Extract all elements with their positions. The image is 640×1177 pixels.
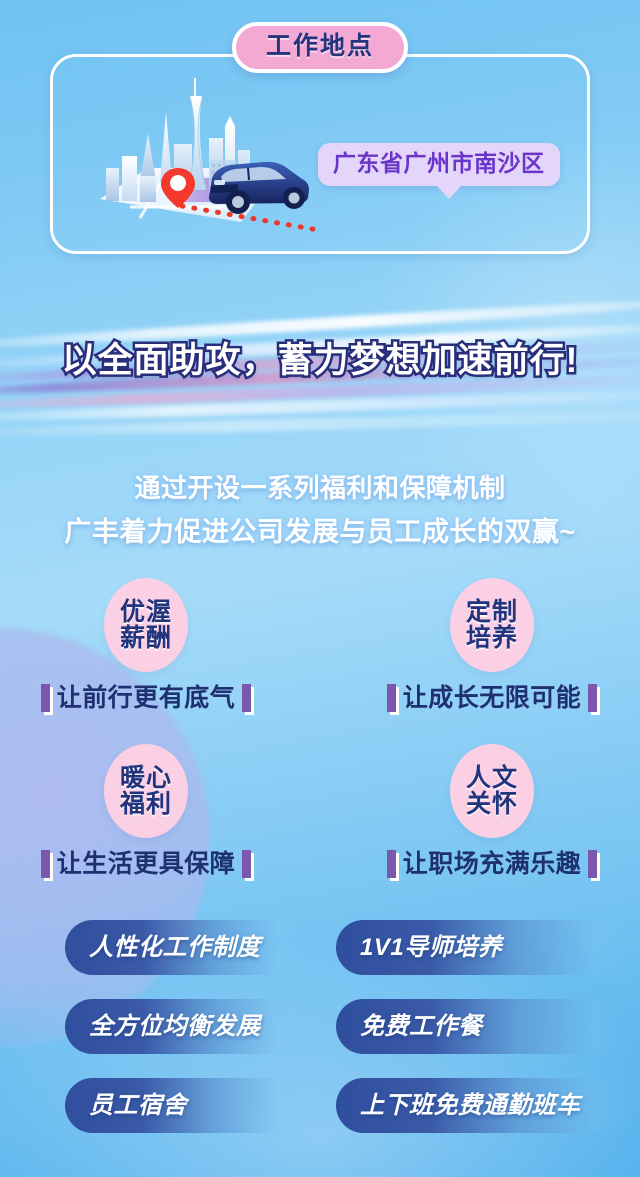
perk-pill-row-1: 人性化工作制度 1V1导师培养	[0, 920, 640, 975]
perk-pill-list: 人性化工作制度 1V1导师培养 全方位均衡发展 免费工作餐	[0, 920, 640, 1155]
perk-pill-row-3: 员工宿舍 上下班免费通勤班车	[0, 1078, 640, 1133]
benefits-row-1: 优渥 薪酬 让前行更有底气 定制 培养 让成长无限可能	[0, 578, 640, 712]
location-bubble: 广东省广州市南沙区	[318, 143, 560, 186]
tagline-bar-left-icon	[41, 684, 50, 712]
benefit-tagline-text-0: 让前行更有底气	[57, 686, 236, 711]
benefit-circle-line1-1: 定制	[466, 599, 518, 626]
subtitle: 通过开设一系列福利和保障机制 广丰着力促进公司发展与员工成长的双赢~	[0, 470, 640, 551]
tagline-bar-right-icon	[588, 850, 597, 878]
benefit-circle-line2-3: 关怀	[466, 791, 518, 818]
benefit-circle-line1-2: 暖心	[120, 765, 172, 792]
tagline-bar-left-icon	[387, 850, 396, 878]
subtitle-line-2: 广丰着力促进公司发展与员工成长的双赢~	[0, 513, 640, 551]
tagline-bar-right-icon	[242, 684, 251, 712]
benefit-item-0: 优渥 薪酬 让前行更有底气	[0, 578, 320, 712]
work-location-badge-label: 工作地点	[266, 34, 374, 59]
benefit-item-3: 人文 关怀 让职场充满乐趣	[320, 744, 640, 878]
headline: 以全面助攻，蓄力梦想加速前行!	[0, 343, 640, 378]
benefit-tagline-0: 让前行更有底气	[41, 684, 252, 712]
benefit-tagline-2: 让生活更具保障	[41, 850, 252, 878]
benefit-circle-1: 定制 培养	[450, 578, 534, 672]
benefit-circle-0: 优渥 薪酬	[104, 578, 188, 672]
work-location-badge: 工作地点	[232, 22, 408, 73]
perk-pill-label-0: 人性化工作制度	[89, 936, 261, 960]
benefit-tagline-text-3: 让职场充满乐趣	[403, 852, 582, 877]
tagline-bar-right-icon	[588, 684, 597, 712]
perk-pill-label-5: 上下班免费通勤班车	[360, 1094, 581, 1118]
benefits-grid: 优渥 薪酬 让前行更有底气 定制 培养 让成长无限可能	[0, 578, 640, 878]
benefit-tagline-3: 让职场充满乐趣	[387, 850, 598, 878]
subtitle-line-1: 通过开设一系列福利和保障机制	[0, 470, 640, 507]
benefit-item-1: 定制 培养 让成长无限可能	[320, 578, 640, 712]
benefit-circle-3: 人文 关怀	[450, 744, 534, 838]
benefit-circle-line2-2: 福利	[120, 791, 172, 818]
perk-pill-1[interactable]: 1V1导师培养	[336, 920, 630, 975]
perk-pill-label-4: 员工宿舍	[89, 1094, 187, 1118]
benefit-tagline-1: 让成长无限可能	[387, 684, 598, 712]
perk-pill-label-2: 全方位均衡发展	[89, 1015, 261, 1039]
tagline-bar-right-icon	[242, 850, 251, 878]
tagline-bar-left-icon	[41, 850, 50, 878]
illustration-svg	[78, 72, 318, 242]
perk-pill-2[interactable]: 全方位均衡发展	[65, 999, 306, 1054]
perk-pill-row-2: 全方位均衡发展 免费工作餐	[0, 999, 640, 1054]
perk-pill-5[interactable]: 上下班免费通勤班车	[336, 1078, 630, 1133]
tagline-bar-left-icon	[387, 684, 396, 712]
benefit-circle-line2-1: 培养	[466, 625, 518, 652]
perk-pill-label-1: 1V1导师培养	[360, 936, 502, 960]
benefit-circle-2: 暖心 福利	[104, 744, 188, 838]
benefit-item-2: 暖心 福利 让生活更具保障	[0, 744, 320, 878]
recruitment-poster: 工作地点	[0, 0, 640, 1177]
perk-pill-3[interactable]: 免费工作餐	[336, 999, 630, 1054]
perk-pill-0[interactable]: 人性化工作制度	[65, 920, 306, 975]
benefit-tagline-text-2: 让生活更具保障	[57, 852, 236, 877]
perk-pill-label-3: 免费工作餐	[360, 1015, 483, 1039]
location-illustration	[78, 72, 318, 242]
benefit-circle-line1-3: 人文	[466, 765, 518, 792]
benefit-circle-line1-0: 优渥	[120, 599, 172, 626]
benefits-row-2: 暖心 福利 让生活更具保障 人文 关怀 让职场充满乐趣	[0, 744, 640, 878]
benefit-tagline-text-1: 让成长无限可能	[403, 686, 582, 711]
benefit-circle-line2-0: 薪酬	[120, 625, 172, 652]
location-bubble-text: 广东省广州市南沙区	[333, 150, 545, 176]
perk-pill-4[interactable]: 员工宿舍	[65, 1078, 306, 1133]
